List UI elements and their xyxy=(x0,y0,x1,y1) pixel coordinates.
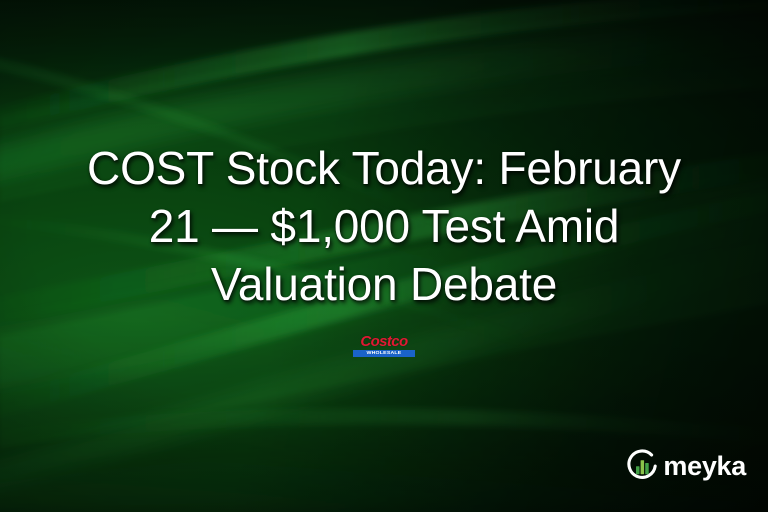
share-banner: COST Stock Today: February 21 — $1,000 T… xyxy=(0,0,768,512)
meyka-bar-chart-ring-icon xyxy=(624,448,660,484)
costco-wholesale-label: WHOLESALE xyxy=(353,350,415,357)
costco-wholesale-bar: WHOLESALE xyxy=(353,350,415,357)
costco-wordmark: Costco xyxy=(353,334,415,349)
meyka-wordmark: meyka xyxy=(663,451,746,481)
meyka-brand-logo: meyka xyxy=(624,448,746,484)
page-title: COST Stock Today: February 21 — $1,000 T… xyxy=(0,139,768,313)
costco-logo: Costco WHOLESALE xyxy=(353,334,415,357)
